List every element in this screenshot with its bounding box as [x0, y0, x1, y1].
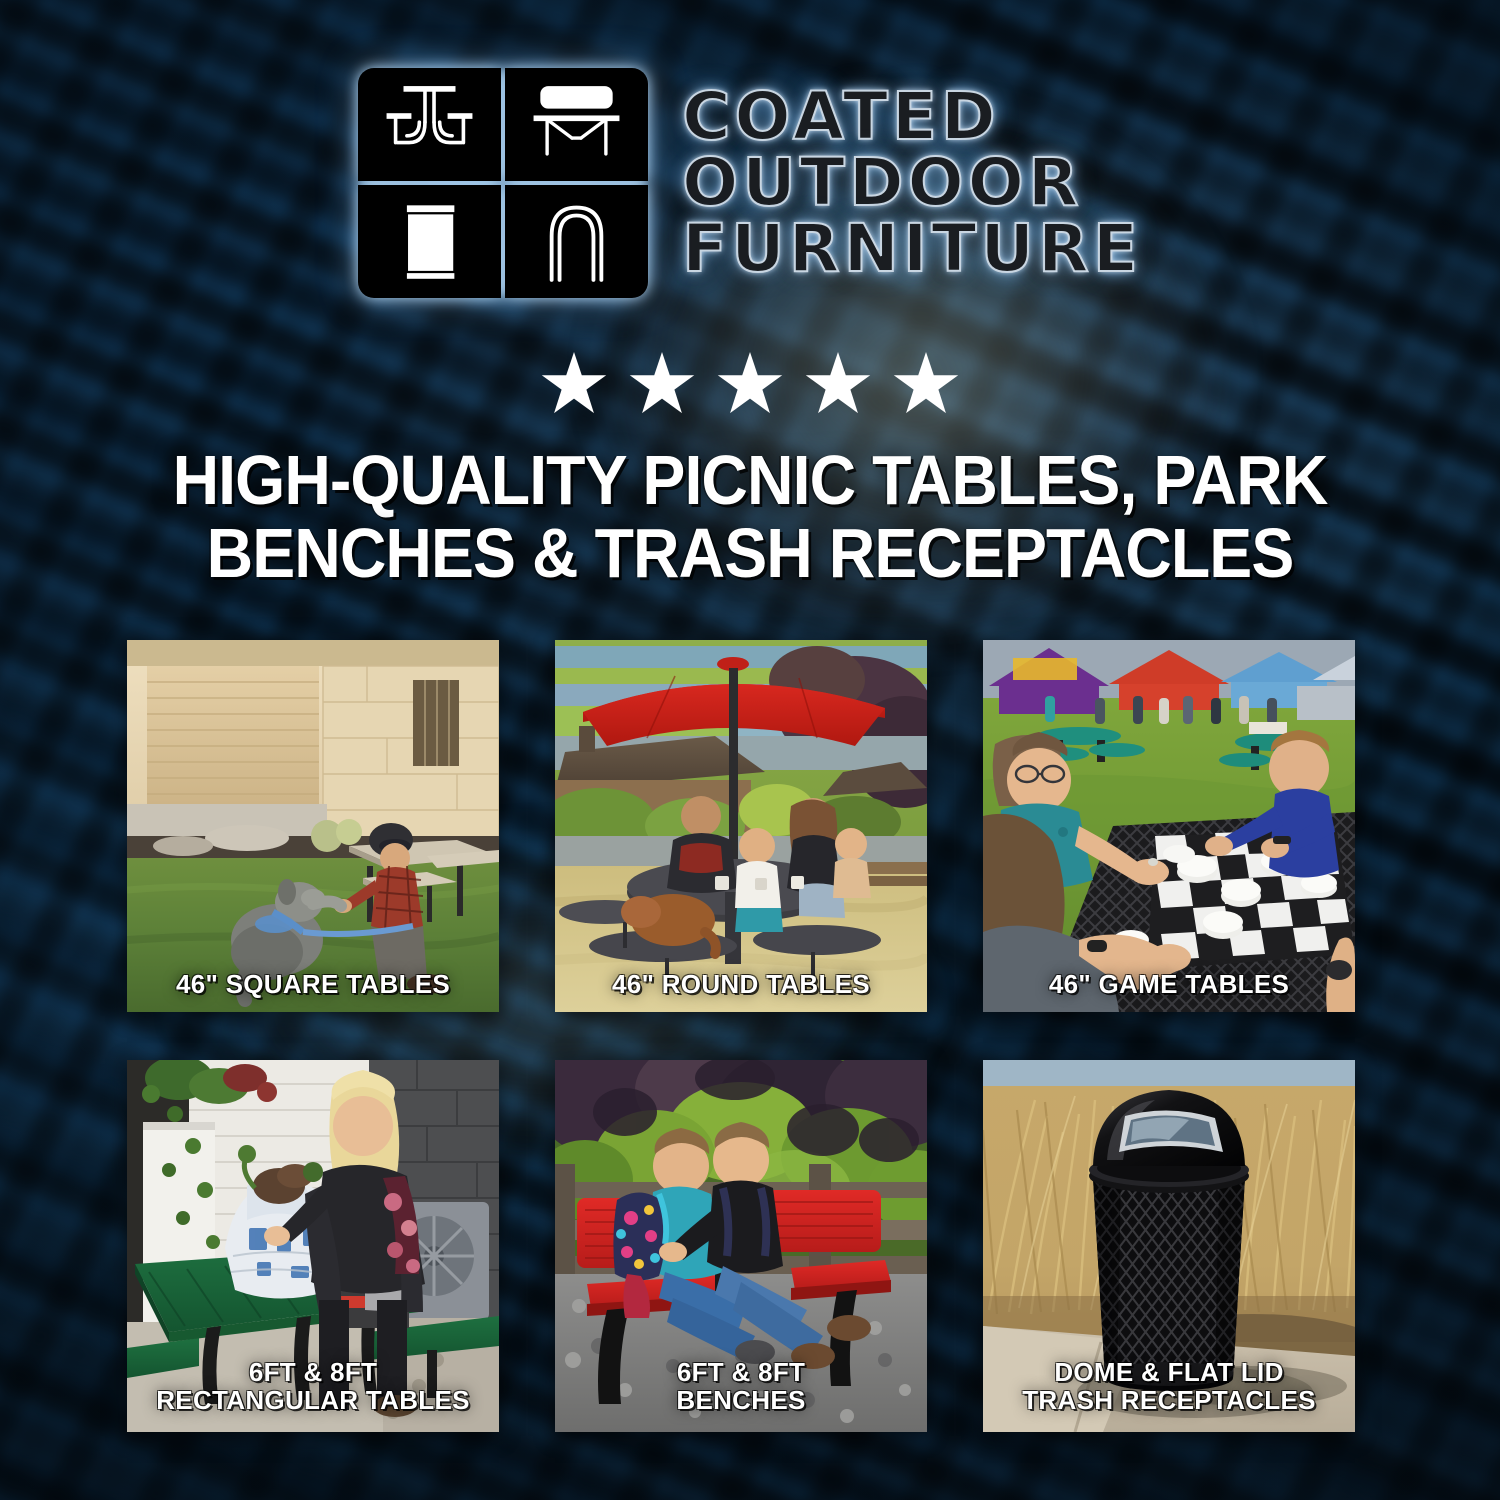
- tile-caption: 6FT & 8FT RECTANGULAR TABLES: [127, 1358, 499, 1414]
- caption-line-1: 6FT & 8FT: [677, 1357, 805, 1387]
- brand-wordmark: COATED OUTDOOR FURNITURE: [682, 85, 1142, 281]
- star-rating: [0, 352, 1500, 418]
- page-title: HIGH-QUALITY PICNIC TABLES, PARK BENCHES…: [115, 444, 1385, 590]
- photo-square-tables: [127, 640, 499, 1012]
- headline-line-1: HIGH-QUALITY PICNIC TABLES, PARK: [115, 444, 1385, 517]
- photo-round-tables: [555, 640, 927, 1012]
- trash-receptacle-icon: [358, 185, 501, 298]
- star-icon: [541, 352, 607, 418]
- brand-line-2: OUTDOOR: [682, 151, 1142, 215]
- logo-icon-grid: [358, 68, 648, 298]
- product-tile-round-tables[interactable]: 46" ROUND TABLES: [555, 640, 927, 1012]
- tile-caption: 46" GAME TABLES: [983, 970, 1355, 998]
- product-tile-benches[interactable]: 6FT & 8FT BENCHES: [555, 1060, 927, 1432]
- star-icon: [717, 352, 783, 418]
- tile-caption: 46" ROUND TABLES: [555, 970, 927, 998]
- caption-line-1: DOME & FLAT LID: [1054, 1357, 1283, 1387]
- product-tile-game-tables[interactable]: 46" GAME TABLES: [983, 640, 1355, 1012]
- product-tile-trash-receptacles[interactable]: DOME & FLAT LID TRASH RECEPTACLES: [983, 1060, 1355, 1432]
- caption-line-1: 46" SQUARE TABLES: [176, 969, 450, 999]
- photo-game-tables: [983, 640, 1355, 1012]
- caption-line-2: TRASH RECEPTACLES: [983, 1386, 1355, 1414]
- star-icon: [805, 352, 871, 418]
- caption-line-2: RECTANGULAR TABLES: [127, 1386, 499, 1414]
- picnic-table-icon: [358, 68, 501, 181]
- star-icon: [893, 352, 959, 418]
- star-icon: [629, 352, 695, 418]
- product-tile-square-tables[interactable]: 46" SQUARE TABLES: [127, 640, 499, 1012]
- brand-line-3: FURNITURE: [682, 217, 1142, 281]
- caption-line-1: 46" GAME TABLES: [1049, 969, 1289, 999]
- headline-line-2: BENCHES & TRASH RECEPTACLES: [115, 517, 1385, 590]
- tile-caption: 46" SQUARE TABLES: [127, 970, 499, 998]
- caption-line-1: 6FT & 8FT: [249, 1357, 377, 1387]
- product-tile-rectangular-tables[interactable]: 6FT & 8FT RECTANGULAR TABLES: [127, 1060, 499, 1432]
- tile-caption: DOME & FLAT LID TRASH RECEPTACLES: [983, 1358, 1355, 1414]
- brand-line-1: COATED: [682, 85, 1142, 149]
- bench-icon: [505, 68, 648, 181]
- tile-caption: 6FT & 8FT BENCHES: [555, 1358, 927, 1414]
- caption-line-2: BENCHES: [555, 1386, 927, 1414]
- product-photo-grid: 46" SQUARE TABLES: [127, 640, 1373, 1432]
- caption-line-1: 46" ROUND TABLES: [612, 969, 870, 999]
- brand-logo: COATED OUTDOOR FURNITURE: [0, 68, 1500, 298]
- bike-rack-icon: [505, 185, 648, 298]
